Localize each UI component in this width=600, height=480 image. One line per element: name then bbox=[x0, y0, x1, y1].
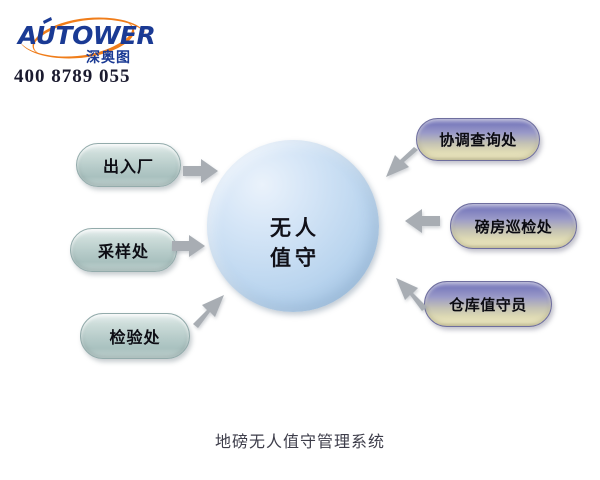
logo-wordmark: AUTOWER bbox=[16, 21, 155, 50]
center-node-unmanned-duty: 无人 值守 bbox=[207, 140, 379, 312]
contact-phone-number: 400 8789 055 bbox=[14, 66, 131, 88]
node-weighbridge-patrol-office[interactable]: 磅房巡检处 bbox=[450, 203, 577, 249]
center-node-label-line1: 无人 bbox=[266, 214, 320, 244]
logo-chinese-name: 深奥图 bbox=[86, 49, 131, 64]
node-sampling-office[interactable]: 采样处 bbox=[70, 228, 177, 272]
node-warehouse-duty-officer-label: 仓库值守员 bbox=[449, 294, 527, 315]
node-sampling-office-label: 采样处 bbox=[98, 238, 149, 262]
arrow-left-icon-weighbridge bbox=[404, 208, 440, 234]
center-node-label-line2: 值守 bbox=[266, 244, 320, 274]
node-coordination-inquiry-office[interactable]: 协调查询处 bbox=[416, 118, 540, 161]
diagram-canvas: AUTOWER 深奥图 400 8789 055 无人 值守 出入厂 采样处 检… bbox=[0, 0, 600, 480]
node-warehouse-duty-officer[interactable]: 仓库值守员 bbox=[424, 281, 552, 327]
arrow-up-right-icon-inspection bbox=[190, 291, 228, 329]
center-node-label: 无人 值守 bbox=[266, 214, 320, 274]
arrow-down-left-icon-coordination bbox=[382, 146, 420, 182]
node-inspection-office[interactable]: 检验处 bbox=[80, 313, 190, 359]
arrow-up-left-icon-warehouse bbox=[392, 274, 430, 312]
node-coordination-inquiry-office-label: 协调查询处 bbox=[439, 129, 517, 150]
node-entry-exit-factory-label: 出入厂 bbox=[103, 153, 154, 177]
node-weighbridge-patrol-office-label: 磅房巡检处 bbox=[475, 216, 553, 237]
arrow-right-icon-sampling bbox=[172, 234, 206, 258]
node-inspection-office-label: 检验处 bbox=[109, 324, 160, 348]
logo-svg: AUTOWER 深奥图 bbox=[14, 12, 164, 64]
diagram-caption: 地磅无人值守管理系统 bbox=[0, 428, 600, 452]
node-entry-exit-factory[interactable]: 出入厂 bbox=[76, 143, 181, 187]
autower-logo: AUTOWER 深奥图 bbox=[14, 12, 164, 64]
arrow-right-icon-entry-exit bbox=[183, 158, 219, 184]
